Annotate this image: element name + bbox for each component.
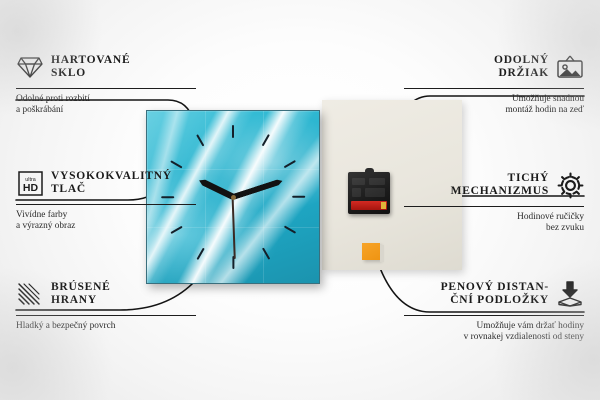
feature-heading: TICHÝ MECHANIZMUS: [404, 168, 584, 202]
feature-divider: [16, 315, 196, 316]
diamond-icon: [16, 53, 44, 81]
feature-polished-edges: BRÚSENÉ HRANY Hladký a bezpečný povrch: [16, 277, 196, 332]
feature-heading: HARTOVANÉ SKLO: [16, 50, 196, 84]
clock-tick: [292, 196, 305, 198]
feature-divider: [404, 88, 584, 89]
clock-hour-hand: [197, 177, 234, 200]
battery-terminal: [381, 202, 386, 209]
foam-pad-arrow-icon: [556, 280, 584, 308]
mechanism-shaft: [365, 168, 374, 174]
picture-hanger-icon: [556, 53, 584, 81]
feature-tempered-glass: HARTOVANÉ SKLO Odolné proti rozbití a po…: [16, 50, 196, 117]
mechanism-detail: [352, 188, 361, 197]
mechanism-battery: [351, 201, 387, 210]
foam-spacer-pad: [362, 243, 380, 260]
feature-description: Umožňuje snadnou montáž hodin na zeď: [404, 94, 584, 117]
feature-description: Vivídne farby a výrazný obraz: [16, 210, 196, 233]
feature-durable-holder: ODOLNÝ DRŽIAK Umožňuje snadnou montáž ho…: [404, 50, 584, 117]
clock-tick: [232, 125, 234, 138]
mechanism-detail: [365, 188, 385, 197]
clock-tick: [284, 225, 296, 234]
polished-edge-icon: [16, 280, 44, 308]
feature-silent-mechanism: TICHÝ MECHANIZMUS Hodinové ručičky bez z…: [404, 168, 584, 235]
feature-heading: ODOLNÝ DRŽIAK: [404, 50, 584, 84]
clock-tick: [261, 134, 270, 146]
clock-mechanism: [348, 172, 390, 214]
feature-foam-spacers: PENOVÝ DISTAN- ČNÍ PODLOŽKY Umožňuje vám…: [404, 277, 584, 344]
feature-description: Hodinové ručičky bez zvuku: [404, 212, 584, 235]
infographic-canvas: HARTOVANÉ SKLO Odolné proti rozbití a po…: [0, 0, 600, 400]
feature-title: VYSOKOKVALITNÝ TLAČ: [51, 170, 172, 197]
feature-divider: [16, 204, 196, 205]
ultra-hd-badge-icon: ultra HD: [16, 169, 44, 197]
feature-title: HARTOVANÉ SKLO: [51, 54, 130, 81]
gear-icon: [556, 171, 584, 199]
clock-tick: [196, 247, 205, 259]
feature-heading: BRÚSENÉ HRANY: [16, 277, 196, 311]
feature-divider: [404, 315, 584, 316]
mechanism-detail: [352, 178, 365, 185]
feature-description: Umožňuje vám držať hodiny v rovnakej vzd…: [404, 321, 584, 344]
feature-title: BRÚSENÉ HRANY: [51, 281, 111, 308]
feature-high-quality-print: ultra HD VYSOKOKVALITNÝ TLAČ Vivídne far…: [16, 166, 196, 233]
clock-tick: [284, 160, 296, 169]
feature-title: PENOVÝ DISTAN- ČNÍ PODLOŽKY: [441, 281, 549, 308]
feature-divider: [16, 88, 196, 89]
clock-minute-hand: [232, 178, 283, 200]
feature-description: Odolné proti rozbití a poškrábání: [16, 94, 196, 117]
feature-heading: PENOVÝ DISTAN- ČNÍ PODLOŽKY: [404, 277, 584, 311]
mechanism-detail: [369, 178, 385, 185]
feature-title: TICHÝ MECHANIZMUS: [451, 172, 549, 199]
feature-description: Hladký a bezpečný povrch: [16, 321, 196, 332]
feature-title: ODOLNÝ DRŽIAK: [494, 54, 549, 81]
foam-pad-edge: [380, 245, 384, 262]
clock-center-cap: [231, 195, 236, 200]
feature-divider: [404, 206, 584, 207]
feature-heading: ultra HD VYSOKOKVALITNÝ TLAČ: [16, 166, 196, 200]
svg-text:HD: HD: [22, 182, 38, 194]
clock-second-hand: [232, 197, 236, 259]
clock-tick: [261, 247, 270, 259]
clock-tick: [196, 134, 205, 146]
